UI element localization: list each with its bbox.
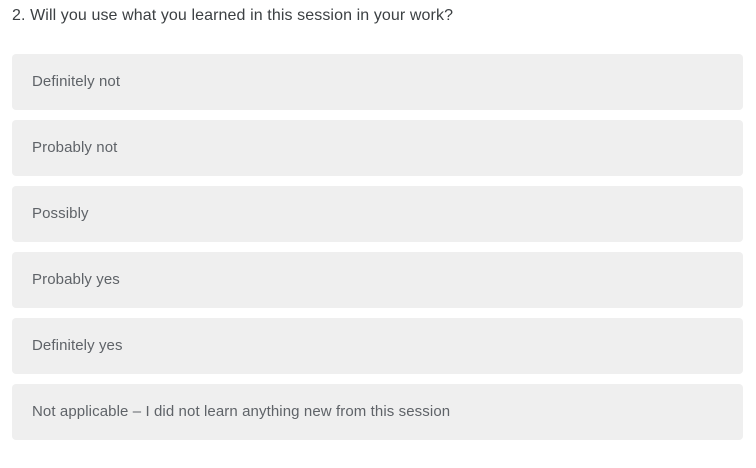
option-label: Possibly (32, 204, 89, 224)
option-label: Definitely not (32, 72, 120, 92)
option-row-definitely-yes[interactable]: Definitely yes (12, 318, 743, 374)
option-label: Probably not (32, 138, 117, 158)
option-row-possibly[interactable]: Possibly (12, 186, 743, 242)
option-label: Not applicable – I did not learn anythin… (32, 402, 450, 422)
option-row-probably-not[interactable]: Probably not (12, 120, 743, 176)
option-row-not-applicable[interactable]: Not applicable – I did not learn anythin… (12, 384, 743, 440)
option-row-definitely-not[interactable]: Definitely not (12, 54, 743, 110)
option-row-probably-yes[interactable]: Probably yes (12, 252, 743, 308)
option-label: Probably yes (32, 270, 120, 290)
answer-options-list: Definitely not Probably not Possibly Pro… (12, 54, 743, 440)
option-label: Definitely yes (32, 336, 123, 356)
survey-question-block: 2. Will you use what you learned in this… (0, 0, 756, 468)
page-title: 2. Will you use what you learned in this… (12, 5, 742, 27)
